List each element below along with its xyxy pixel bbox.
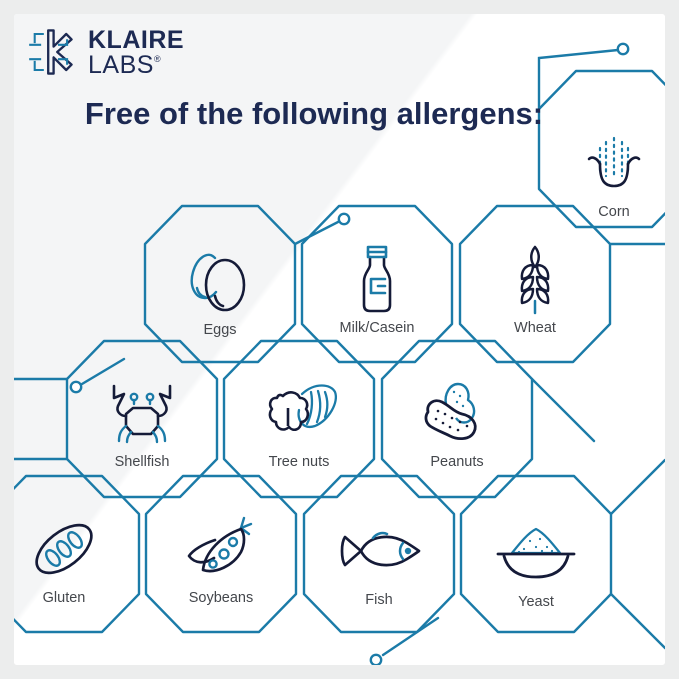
fish-icon bbox=[304, 512, 454, 590]
allergen-cell-soybeans: Soybeans bbox=[146, 510, 296, 606]
connector-dot-bottom bbox=[371, 655, 381, 665]
allergen-cell-eggs: Eggs bbox=[145, 242, 295, 338]
registered-trademark-symbol: ® bbox=[154, 53, 161, 64]
milk-bottle-icon bbox=[302, 240, 452, 318]
edge-stub-right-lower bbox=[611, 460, 665, 514]
allergen-cell-peanuts: Peanuts bbox=[382, 374, 532, 470]
tree-nuts-icon bbox=[224, 374, 374, 452]
allergen-label: Eggs bbox=[145, 322, 295, 338]
crab-icon bbox=[67, 374, 217, 452]
peanuts-icon bbox=[382, 374, 532, 452]
brand-name-line2: LABS bbox=[88, 53, 154, 78]
allergen-cell-shellfish: Shellfish bbox=[67, 374, 217, 470]
allergen-label: Tree nuts bbox=[224, 454, 374, 470]
allergen-label: Wheat bbox=[460, 320, 610, 336]
allergen-label: Peanuts bbox=[382, 454, 532, 470]
allergen-label: Fish bbox=[304, 592, 454, 608]
allergen-cell-milk: Milk/Casein bbox=[302, 240, 452, 336]
page-title: Free of the following allergens: bbox=[74, 94, 554, 134]
allergen-label: Shellfish bbox=[67, 454, 217, 470]
edge-stub-right-bottom bbox=[611, 594, 665, 648]
yeast-bowl-icon bbox=[461, 514, 611, 592]
allergen-cell-corn: Corn bbox=[539, 124, 665, 220]
allergen-cell-wheat: Wheat bbox=[460, 240, 610, 336]
allergen-label: Corn bbox=[539, 204, 665, 220]
corn-icon bbox=[539, 124, 665, 202]
allergen-cell-yeast: Yeast bbox=[461, 514, 611, 610]
wheat-icon bbox=[460, 240, 610, 318]
allergen-cell-gluten: Gluten bbox=[14, 510, 139, 606]
allergen-cell-tree-nuts: Tree nuts bbox=[224, 374, 374, 470]
connector-dot-eggs bbox=[339, 214, 349, 224]
eggs-icon bbox=[145, 242, 295, 320]
connector-dot-top-right bbox=[618, 44, 628, 54]
bread-slice-icon bbox=[14, 510, 139, 588]
edge-stub-right-mid bbox=[532, 379, 594, 441]
infographic-canvas: KLAIRE LABS ® Free of the following alle… bbox=[14, 14, 665, 665]
connector-fish-bottom bbox=[383, 618, 438, 655]
soybean-pod-icon bbox=[146, 510, 296, 588]
brand-name-line1: KLAIRE bbox=[88, 28, 184, 53]
klaire-k-mark-icon bbox=[23, 25, 77, 79]
allergen-label: Soybeans bbox=[146, 590, 296, 606]
brand-logo: KLAIRE LABS ® bbox=[23, 25, 184, 79]
brand-wordmark: KLAIRE LABS ® bbox=[88, 27, 184, 78]
allergen-label: Gluten bbox=[14, 590, 139, 606]
allergen-label: Yeast bbox=[461, 594, 611, 610]
allergen-cell-fish: Fish bbox=[304, 512, 454, 608]
allergen-label: Milk/Casein bbox=[302, 320, 452, 336]
